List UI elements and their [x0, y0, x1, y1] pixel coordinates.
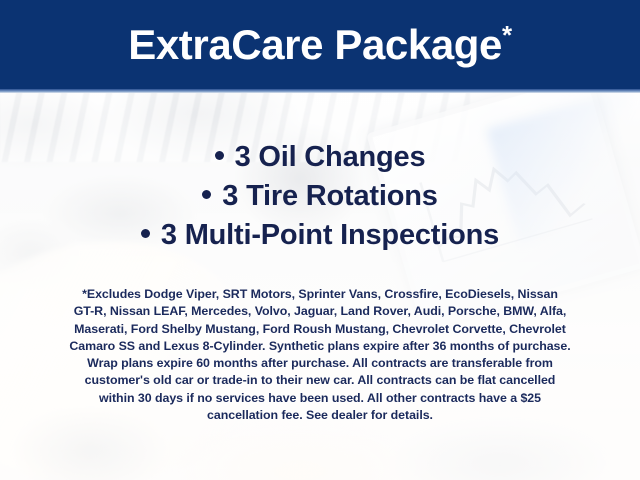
benefits-list: 3 Oil Changes 3 Tire Rotations 3 Multi-P… [0, 138, 640, 255]
benefit-item: 3 Tire Rotations [0, 177, 640, 216]
bullet-dot-icon [215, 151, 224, 160]
title-asterisk: * [502, 20, 512, 50]
page-title-text: ExtraCare Package [128, 21, 502, 68]
benefit-item: 3 Multi-Point Inspections [0, 216, 640, 255]
header-divider [0, 89, 640, 93]
header-banner: ExtraCare Package* [0, 0, 640, 89]
bullet-dot-icon [202, 190, 211, 199]
bullet-dot-icon [141, 229, 150, 238]
disclaimer-line: customer's old car or trade-in to their … [26, 372, 614, 389]
disclaimer-text: *Excludes Dodge Viper, SRT Motors, Sprin… [26, 286, 614, 424]
disclaimer-line: Wrap plans expire 60 months after purcha… [26, 355, 614, 372]
extracare-package-ad: ExtraCare Package* 3 Oil Changes 3 Tire … [0, 0, 640, 480]
disclaimer-line: *Excludes Dodge Viper, SRT Motors, Sprin… [26, 286, 614, 303]
benefit-label: 3 Multi-Point Inspections [161, 219, 499, 251]
benefit-label: 3 Tire Rotations [222, 180, 437, 212]
page-title: ExtraCare Package* [0, 24, 640, 66]
benefit-label: 3 Oil Changes [235, 141, 426, 173]
disclaimer-line: cancellation fee. See dealer for details… [26, 407, 614, 424]
disclaimer-line: Maserati, Ford Shelby Mustang, Ford Rous… [26, 321, 614, 338]
benefit-item: 3 Oil Changes [0, 138, 640, 177]
disclaimer-line: GT-R, Nissan LEAF, Mercedes, Volvo, Jagu… [26, 303, 614, 320]
disclaimer-line: Camaro SS and Lexus 8-Cylinder. Syntheti… [26, 338, 614, 355]
disclaimer-line: within 30 days if no services have been … [26, 390, 614, 407]
